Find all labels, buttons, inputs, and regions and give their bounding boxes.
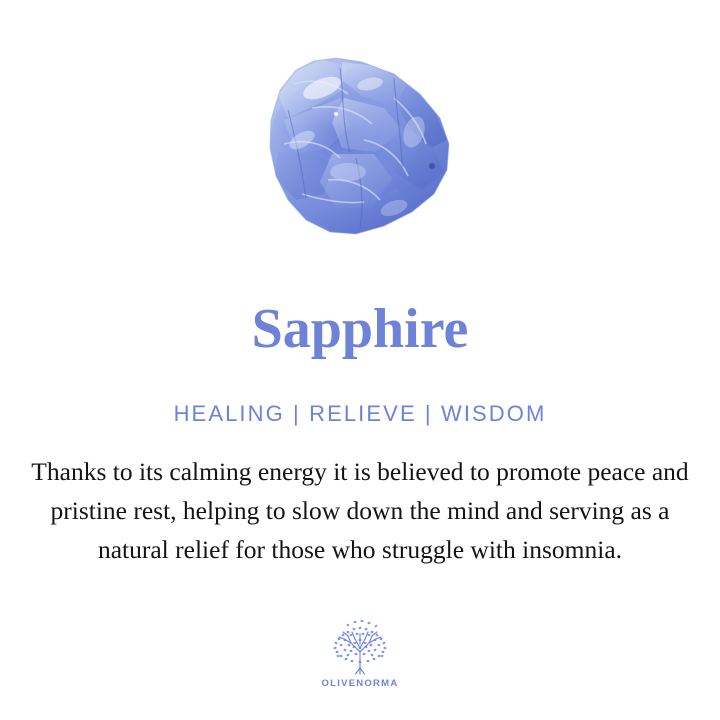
page-title: Sapphire: [0, 300, 720, 359]
keyword-list: HEALING | RELIEVE | WISDOM: [0, 401, 720, 427]
raw-sapphire-crystal-icon: [244, 48, 476, 248]
tree-of-life-icon: [324, 618, 396, 676]
gemstone-info-card: Sapphire HEALING | RELIEVE | WISDOM Than…: [0, 0, 720, 720]
gemstone-image-container: [0, 40, 720, 255]
brand-logo: OLIVENORMA: [0, 618, 720, 689]
description-text: Thanks to its calming energy it is belie…: [18, 452, 702, 569]
brand-name: OLIVENORMA: [322, 678, 399, 689]
